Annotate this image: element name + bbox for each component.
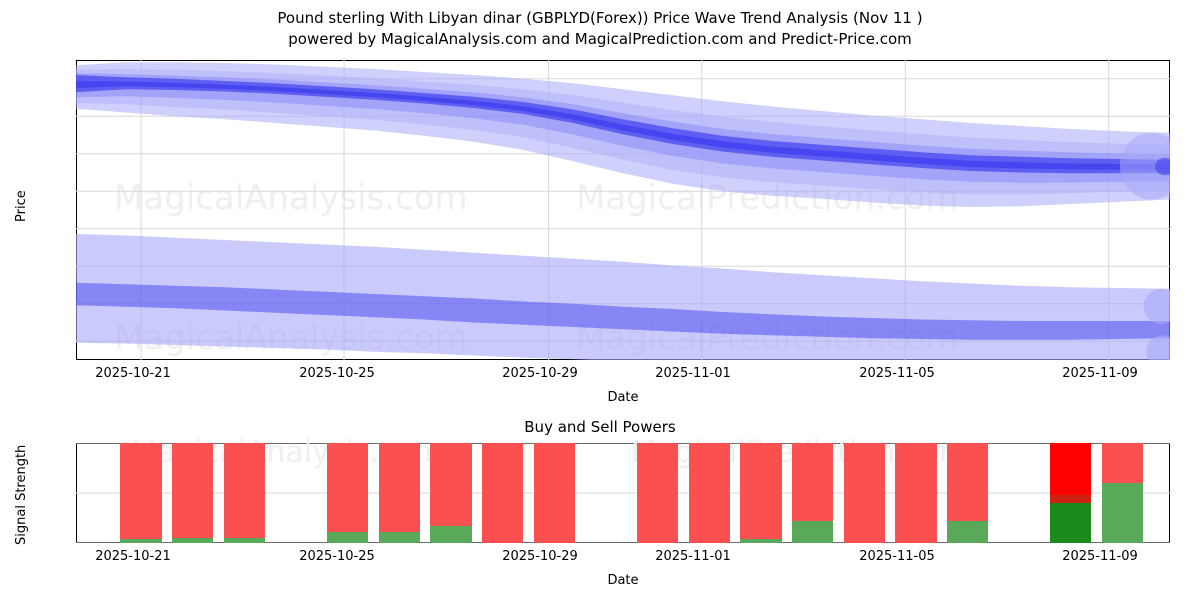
sell-power-segment bbox=[1050, 443, 1091, 503]
price-y-axis-title: Price bbox=[14, 190, 29, 222]
buy-power-segment bbox=[792, 521, 833, 543]
sell-power-segment bbox=[379, 443, 420, 532]
title-line-1: Pound sterling With Libyan dinar (GBPLYD… bbox=[0, 8, 1200, 29]
bar-xtick-1: 2025-10-25 bbox=[277, 549, 397, 564]
bar-xtick-5: 2025-11-09 bbox=[1040, 549, 1160, 564]
sell-power-transition-band bbox=[1050, 495, 1091, 503]
bar-xtick-3: 2025-11-01 bbox=[633, 549, 753, 564]
price-y-axis-title-wrap: Price bbox=[14, 222, 46, 237]
sell-power-segment bbox=[792, 443, 833, 521]
sell-power-segment bbox=[224, 443, 265, 538]
sell-power-segment bbox=[482, 443, 523, 543]
bar-2025-11-06[interactable] bbox=[947, 443, 988, 543]
buy-power-segment bbox=[740, 539, 781, 543]
buy-power-segment bbox=[1050, 503, 1091, 543]
chart-page: Pound sterling With Libyan dinar (GBPLYD… bbox=[0, 0, 1200, 600]
bar-2025-10-23[interactable] bbox=[224, 443, 265, 543]
sell-power-segment bbox=[844, 443, 885, 543]
sell-power-segment bbox=[689, 443, 730, 543]
bar-chart-title: Buy and Sell Powers bbox=[0, 418, 1200, 436]
buy-power-segment bbox=[120, 539, 161, 543]
bar-2025-11-08[interactable] bbox=[1050, 443, 1091, 543]
bar-y-axis-title: Signal Strength bbox=[14, 445, 29, 545]
sell-power-segment bbox=[534, 443, 575, 543]
bar-2025-10-26[interactable] bbox=[379, 443, 420, 543]
buy-power-segment bbox=[224, 538, 265, 543]
sell-power-segment bbox=[172, 443, 213, 538]
bar-2025-10-25[interactable] bbox=[327, 443, 368, 543]
buy-power-segment bbox=[1102, 483, 1143, 543]
sell-power-segment bbox=[120, 443, 161, 539]
bar-2025-10-27[interactable] bbox=[430, 443, 471, 543]
sell-power-segment bbox=[1102, 443, 1143, 483]
bar-2025-11-04[interactable] bbox=[844, 443, 885, 543]
bar-2025-10-29[interactable] bbox=[534, 443, 575, 543]
bar-series-container bbox=[76, 443, 1170, 543]
bar-x-axis-title: Date bbox=[523, 573, 723, 588]
buy-power-segment bbox=[430, 526, 471, 543]
buy-power-segment bbox=[379, 532, 420, 543]
bar-xtick-0: 2025-10-21 bbox=[73, 549, 193, 564]
buy-power-segment bbox=[327, 532, 368, 543]
sell-power-segment bbox=[637, 443, 678, 543]
bar-xtick-4: 2025-11-05 bbox=[837, 549, 957, 564]
sell-power-segment bbox=[947, 443, 988, 521]
price-xtick-0: 2025-10-21 bbox=[73, 366, 193, 381]
bar-2025-11-05[interactable] bbox=[895, 443, 936, 543]
bar-2025-10-31[interactable] bbox=[637, 443, 678, 543]
sell-power-segment bbox=[740, 443, 781, 539]
sell-power-segment bbox=[430, 443, 471, 526]
sell-power-segment bbox=[895, 443, 936, 543]
price-xtick-5: 2025-11-09 bbox=[1040, 366, 1160, 381]
buy-power-segment bbox=[947, 521, 988, 543]
bar-2025-10-22[interactable] bbox=[172, 443, 213, 543]
bar-2025-11-01[interactable] bbox=[689, 443, 730, 543]
price-xtick-2: 2025-10-29 bbox=[480, 366, 600, 381]
price-chart-panel: MagicalAnalysis.com MagicalPrediction.co… bbox=[76, 60, 1170, 360]
bar-2025-10-28[interactable] bbox=[482, 443, 523, 543]
price-xtick-3: 2025-11-01 bbox=[633, 366, 753, 381]
bar-2025-11-02[interactable] bbox=[740, 443, 781, 543]
price-xtick-1: 2025-10-25 bbox=[277, 366, 397, 381]
bar-2025-11-03[interactable] bbox=[792, 443, 833, 543]
price-xtick-4: 2025-11-05 bbox=[837, 366, 957, 381]
price-x-axis-title: Date bbox=[523, 390, 723, 405]
bar-chart-panel: MagicalAnalysis.com MagicalPrediction.co… bbox=[76, 443, 1170, 543]
page-title: Pound sterling With Libyan dinar (GBPLYD… bbox=[0, 8, 1200, 50]
bar-2025-11-09[interactable] bbox=[1102, 443, 1143, 543]
buy-power-segment bbox=[172, 538, 213, 543]
price-wave-svg bbox=[76, 60, 1170, 360]
sell-power-segment bbox=[327, 443, 368, 532]
bar-2025-10-21[interactable] bbox=[120, 443, 161, 543]
bar-xtick-2: 2025-10-29 bbox=[480, 549, 600, 564]
title-line-2: powered by MagicalAnalysis.com and Magic… bbox=[0, 29, 1200, 50]
